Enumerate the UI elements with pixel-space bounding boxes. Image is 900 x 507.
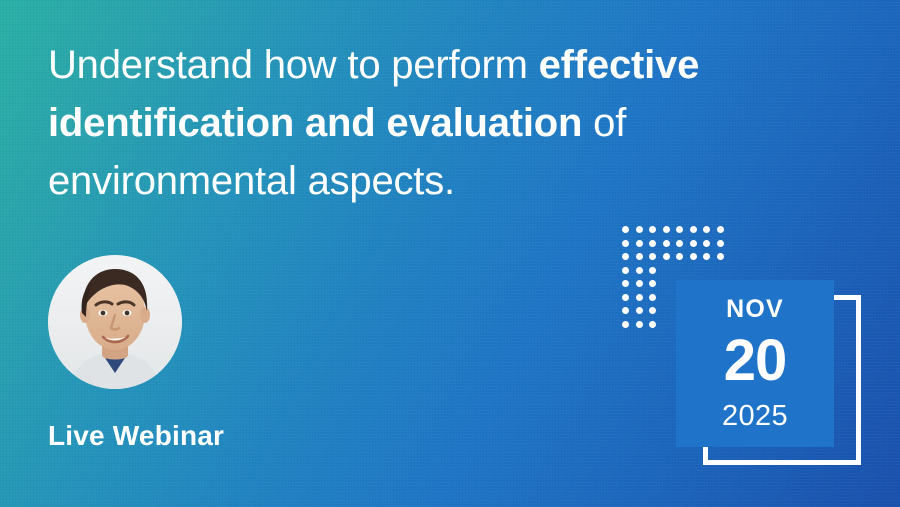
grid-dot (636, 253, 643, 260)
grid-dot (636, 280, 643, 287)
date-year: 2025 (722, 402, 788, 431)
grid-dot (636, 307, 643, 314)
grid-dot (663, 240, 670, 247)
grid-dot (649, 321, 656, 328)
headline-line-1: Understand how to perform effective (48, 36, 848, 94)
date-day: 20 (724, 332, 787, 390)
grid-dot (636, 240, 643, 247)
grid-dot (690, 226, 697, 233)
grid-dot (676, 226, 683, 233)
headline-line-2-bold: identification and evaluation (48, 101, 582, 145)
page-title: Understand how to perform effective iden… (48, 36, 848, 210)
grid-dot (622, 226, 629, 233)
grid-dot (649, 294, 656, 301)
grid-dot (676, 253, 683, 260)
grid-dot (622, 267, 629, 274)
grid-dot (663, 226, 670, 233)
headline-line-2-normal: of (582, 101, 626, 145)
grid-dot (636, 226, 643, 233)
grid-dot (649, 280, 656, 287)
headline-line-2: identification and evaluation of (48, 94, 848, 152)
headline-line-3: environmental aspects. (48, 152, 848, 210)
grid-dot (649, 267, 656, 274)
headline-line-1-normal: Understand how to perform (48, 43, 539, 87)
grid-dot (676, 240, 683, 247)
grid-dot (717, 226, 724, 233)
grid-dot (622, 240, 629, 247)
grid-dot (703, 226, 710, 233)
grid-dot (649, 307, 656, 314)
grid-dot (649, 253, 656, 260)
grid-dot (649, 226, 656, 233)
grid-dot (703, 253, 710, 260)
grid-dot (703, 240, 710, 247)
grid-dot (690, 240, 697, 247)
grid-dot (663, 253, 670, 260)
grid-dot (636, 294, 643, 301)
grid-dot (690, 253, 697, 260)
grid-dot (717, 253, 724, 260)
grid-dot (636, 267, 643, 274)
date-badge-content: NOV 20 2025 (676, 280, 834, 447)
grid-dot (622, 280, 629, 287)
grid-dot (622, 321, 629, 328)
date-month: NOV (726, 297, 784, 322)
avatar (48, 255, 182, 389)
grid-dot (622, 294, 629, 301)
webinar-promo-banner: Understand how to perform effective iden… (0, 0, 900, 507)
grid-dot (622, 253, 629, 260)
grid-dot (717, 240, 724, 247)
grid-dot (649, 240, 656, 247)
grid-dot (636, 321, 643, 328)
grid-dot (622, 307, 629, 314)
date-badge: NOV 20 2025 (676, 280, 834, 447)
event-type-label: Live Webinar (48, 420, 224, 452)
presenter-photo-icon (48, 255, 182, 389)
headline-line-1-bold: effective (539, 43, 700, 87)
